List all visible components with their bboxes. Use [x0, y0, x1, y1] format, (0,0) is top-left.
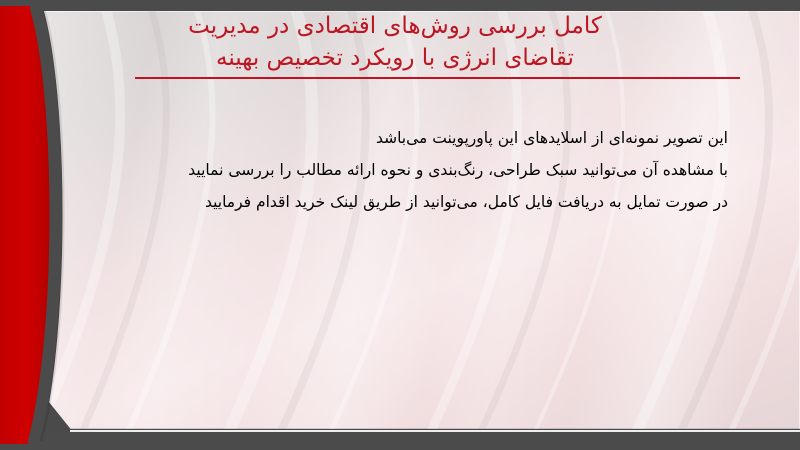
- body-line-2: با مشاهده آن می‌توانید سبک طراحی، رنگ‌بن…: [88, 154, 728, 186]
- bottom-frame-band: [0, 432, 800, 450]
- slide-content-panel: [40, 11, 800, 433]
- powerpoint-slide: کامل بررسی روش‌های اقتصادی در مدیریت تقا…: [0, 0, 800, 450]
- slide-title: کامل بررسی روش‌های اقتصادی در مدیریت تقا…: [45, 10, 745, 74]
- title-underline-rule: [135, 77, 740, 79]
- body-line-3: در صورت تمایل به دریافت فایل کامل، می‌تو…: [88, 186, 728, 218]
- slide-body-text: این تصویر نمونه‌ای از اسلایدهای این پاور…: [88, 122, 728, 218]
- panel-bottom-highlight-edge: [70, 430, 800, 432]
- title-line-2: تقاضای انرژی با رویکرد تخصیص بهینه: [45, 42, 745, 74]
- title-line-1: کامل بررسی روش‌های اقتصادی در مدیریت: [45, 10, 745, 42]
- body-line-1: این تصویر نمونه‌ای از اسلایدهای این پاور…: [88, 122, 728, 154]
